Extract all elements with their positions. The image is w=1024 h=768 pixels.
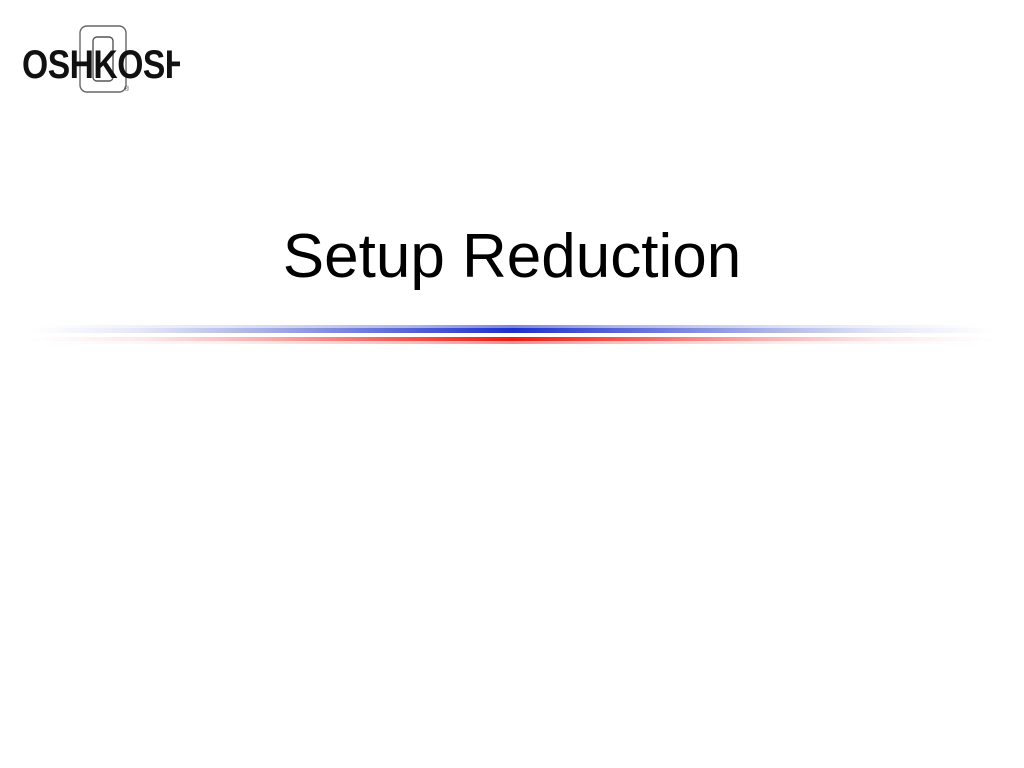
logo-wordmark-text: OSHKOSH xyxy=(22,41,180,87)
oshkosh-logo: OSHKOSH ® xyxy=(20,22,180,96)
registered-trademark-icon: ® xyxy=(124,85,130,93)
oshkosh-logo-graphic: OSHKOSH ® xyxy=(20,22,180,96)
slide-canvas: OSHKOSH ® Setup Reduction xyxy=(0,0,1024,768)
page-title: Setup Reduction xyxy=(0,222,1024,291)
title-divider xyxy=(0,325,1024,347)
divider-red-glow xyxy=(0,341,1024,344)
